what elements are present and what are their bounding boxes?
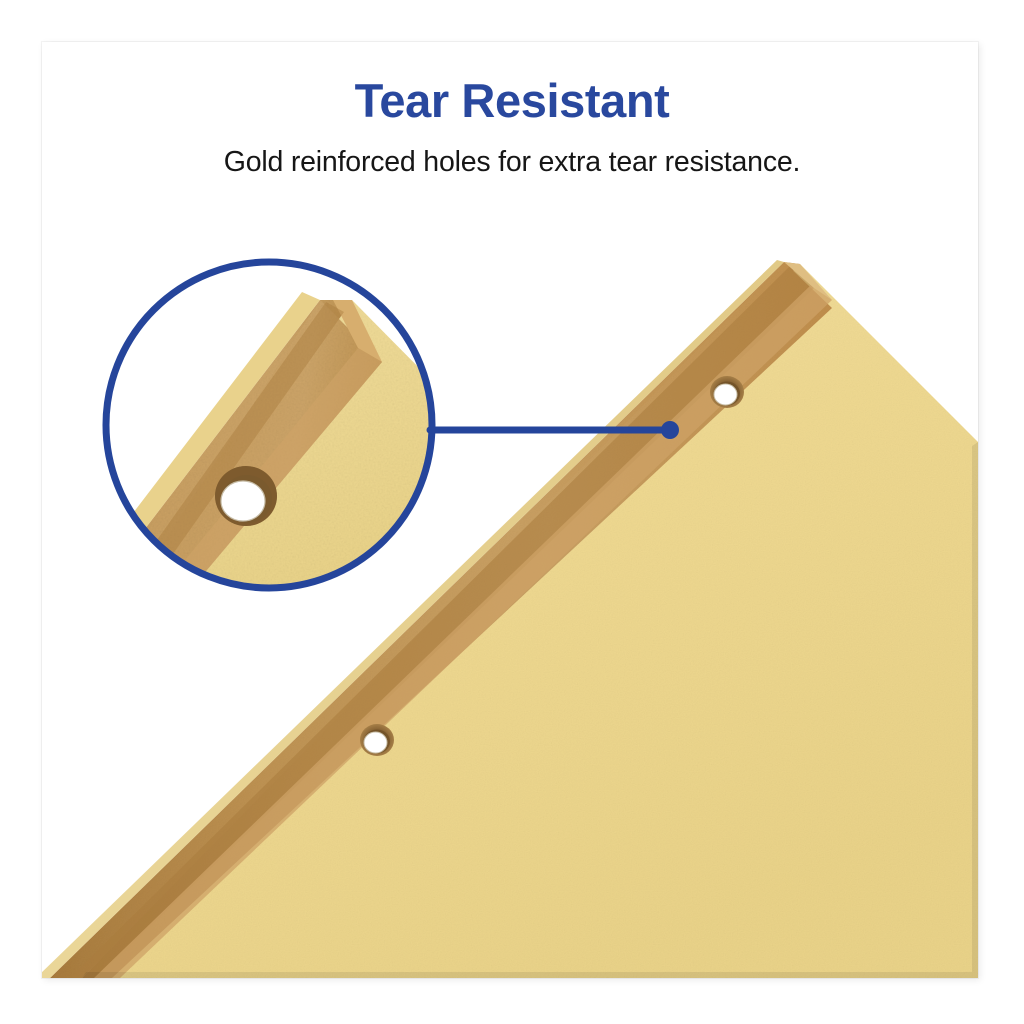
page-title: Tear Resistant — [0, 76, 1024, 127]
product-feature-image: Tear Resistant Gold reinforced holes for… — [0, 0, 1024, 1024]
page-subtitle: Gold reinforced holes for extra tear res… — [0, 146, 1024, 179]
product-photo-svg — [42, 42, 978, 978]
product-photo — [42, 42, 978, 978]
hole-lower — [360, 724, 394, 756]
hole-upper — [710, 376, 744, 408]
